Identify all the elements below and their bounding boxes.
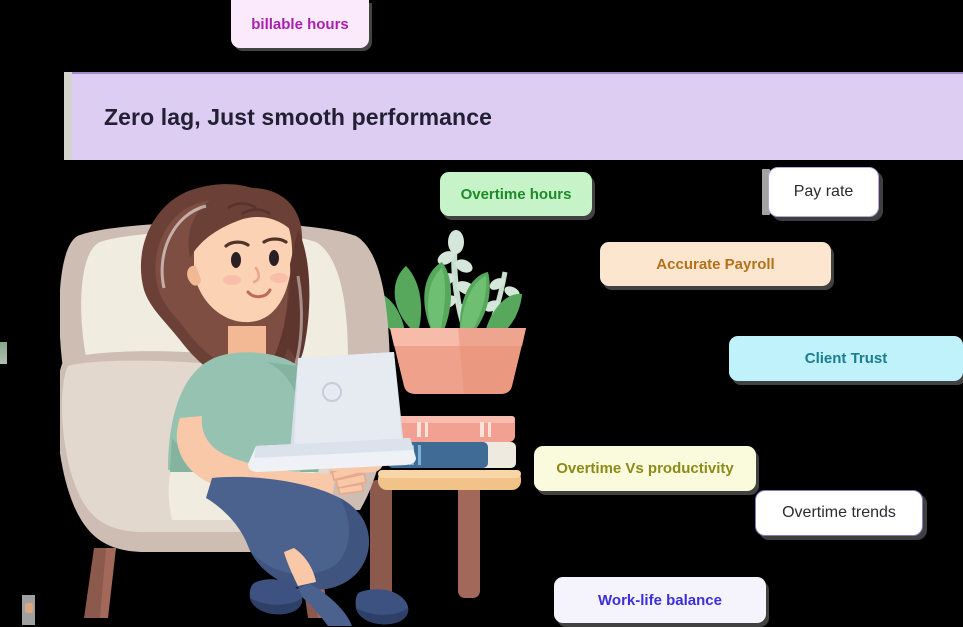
chip-client-trust[interactable]: Client Trust	[729, 336, 963, 381]
chip-billable-hours-label: billable hours	[251, 16, 349, 33]
chip-overtime-vs-productivity-label: Overtime Vs productivity	[556, 460, 734, 477]
shoe-icon-2	[356, 589, 409, 624]
chip-work-life-balance[interactable]: Work-life balance	[554, 577, 766, 623]
side-table-icon	[370, 470, 521, 598]
chip-accurate-payroll-label: Accurate Payroll	[656, 256, 774, 273]
performance-banner: Zero lag, Just smooth performance	[64, 72, 963, 160]
chip-billable-hours[interactable]: billable hours	[231, 0, 369, 48]
chip-pay-rate-label: Pay rate	[794, 183, 854, 201]
cropped-plant-sliver-icon	[0, 342, 7, 364]
cropped-bottom-left-element	[22, 595, 35, 625]
chip-work-life-balance-label: Work-life balance	[598, 592, 722, 609]
page-canvas: Zero lag, Just smooth performance billab…	[0, 0, 963, 627]
chip-overtime-trends[interactable]: Overtime trends	[755, 490, 923, 536]
potted-plant-icon	[376, 230, 526, 394]
chip-accurate-payroll[interactable]: Accurate Payroll	[600, 242, 831, 286]
woman-working-illustration	[60, 180, 530, 627]
chip-overtime-trends-label: Overtime trends	[782, 504, 896, 522]
banner-title: Zero lag, Just smooth performance	[104, 104, 492, 131]
banner-left-gutter	[64, 72, 72, 160]
chip-overtime-vs-productivity[interactable]: Overtime Vs productivity	[534, 446, 756, 491]
chip-pay-rate[interactable]: Pay rate	[768, 167, 879, 217]
chip-client-trust-label: Client Trust	[805, 350, 888, 367]
